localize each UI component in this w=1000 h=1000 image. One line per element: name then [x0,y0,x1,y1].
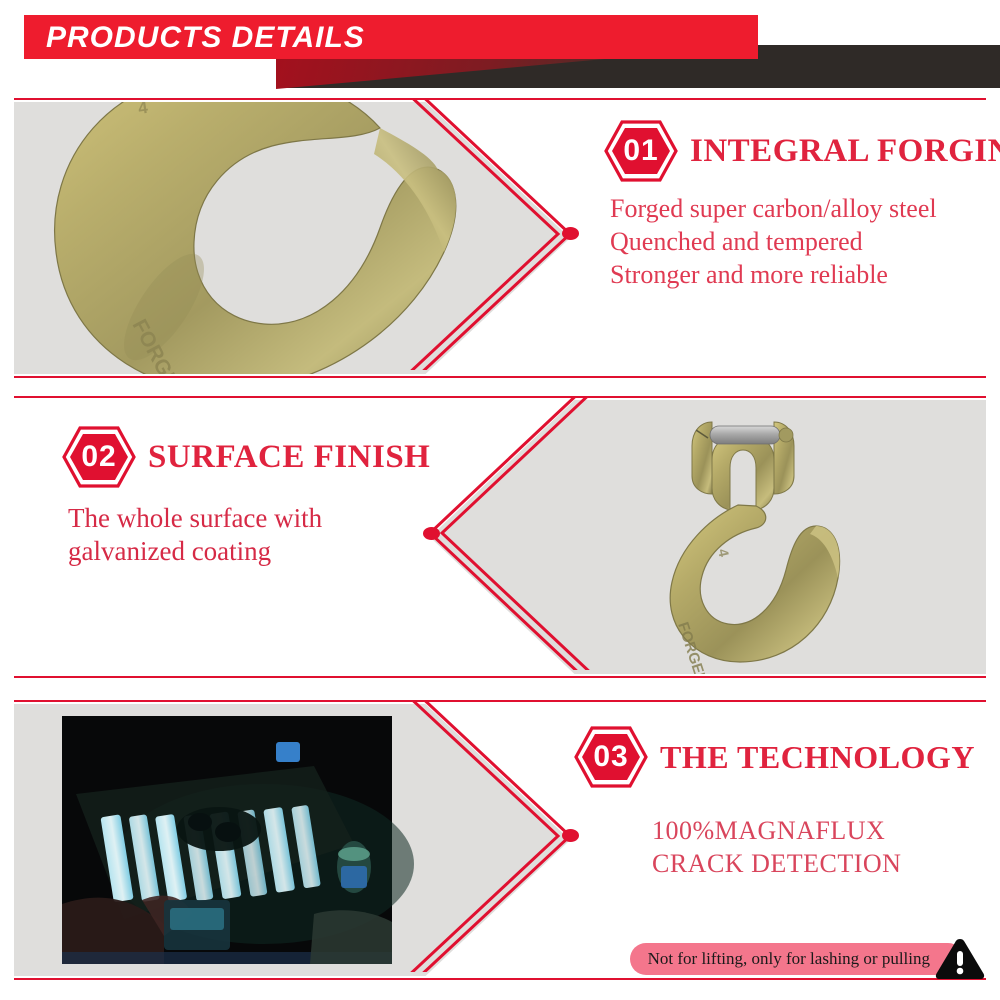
section-02-text: 02 SURFACE FINISH The whole surface with… [62,426,430,568]
clevis-slip-hook-illustration: FORGED 4 [430,400,986,674]
panel-bottom-rule [14,978,986,980]
infographic-page: PRODUCTS DETAILS [0,0,1000,1000]
section-02-line-1: The whole surface with [68,502,430,535]
section-title-01: INTEGRAL FORGING [690,133,1000,170]
section-number-01: 01 [604,120,678,182]
section-01-body: Forged super carbon/alloy steel Quenched… [610,192,1000,291]
warning-triangle-icon [934,937,986,981]
section-01-heading: 01 INTEGRAL FORGING [604,120,1000,182]
section-03-heading: 03 THE TECHNOLOGY [574,726,975,788]
section-number-02: 02 [62,426,136,488]
section-03-line-2: CRACK DETECTION [652,847,975,880]
warning-badge: Not for lifting, only for lashing or pul… [630,940,986,978]
section-02-heading: 02 SURFACE FINISH [62,426,430,488]
section-01-image: FORGED 4 [14,102,570,374]
magnaflux-photo-illustration [14,704,570,976]
section-number-03: 03 [574,726,648,788]
panel-top-rule [14,700,986,702]
section-01-line-2: Quenched and tempered [610,225,1000,258]
section-02-line-2: galvanized coating [68,535,430,568]
section-panel-01: FORGED 4 01 INTEGRAL FORGING [14,98,986,378]
section-01-line-3: Stronger and more reliable [610,258,1000,291]
section-title-02: SURFACE FINISH [148,439,430,476]
page-header: PRODUCTS DETAILS [0,0,1000,98]
panel-bottom-rule [14,376,986,378]
section-number-badge-03: 03 [574,726,648,788]
section-03-body: 100%MAGNAFLUX CRACK DETECTION [652,814,975,880]
section-03-line-1: 100%MAGNAFLUX [652,814,975,847]
section-03-image [14,704,570,976]
section-title-03: THE TECHNOLOGY [660,739,975,776]
section-02-body: The whole surface with galvanized coatin… [68,502,430,568]
section-03-text: 03 THE TECHNOLOGY 100%MAGNAFLUX CRACK DE… [574,726,975,880]
section-02-image: FORGED 4 [430,400,986,674]
section-number-badge-02: 02 [62,426,136,488]
section-number-badge-01: 01 [604,120,678,182]
warning-text: Not for lifting, only for lashing or pul… [630,943,964,975]
panel-bottom-rule [14,676,986,678]
chevron-apex-dot [562,227,579,240]
section-panel-02: FORGED 4 02 SURFACE FINIS [14,396,986,678]
panel-top-rule [14,98,986,100]
page-title: PRODUCTS DETAILS [46,20,365,56]
panel-top-rule [14,396,986,398]
hook-closeup-illustration: FORGED 4 [14,102,570,374]
section-01-text: 01 INTEGRAL FORGING Forged super carbon/… [604,120,1000,291]
section-panel-03: 03 THE TECHNOLOGY 100%MAGNAFLUX CRACK DE… [14,700,986,980]
section-01-line-1: Forged super carbon/alloy steel [610,192,1000,225]
